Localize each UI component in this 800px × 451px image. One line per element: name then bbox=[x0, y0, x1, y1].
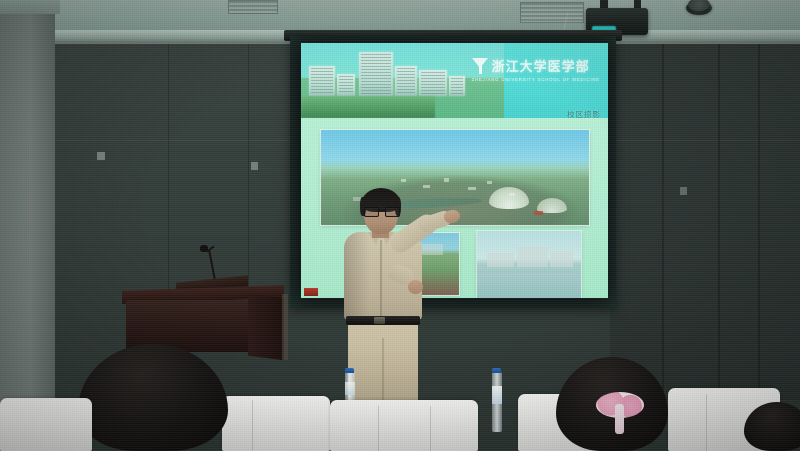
bottle-label bbox=[345, 382, 355, 395]
right-wall bbox=[610, 20, 800, 400]
presenter-shirt-shadow bbox=[344, 232, 370, 320]
eyeglasses-icon bbox=[364, 207, 398, 215]
university-logo-cn: 浙江大学医学部 bbox=[492, 56, 590, 75]
lectern-edge-highlight bbox=[282, 294, 288, 360]
wall-switch[interactable] bbox=[251, 162, 258, 170]
presenter-lower-hand bbox=[408, 280, 423, 294]
university-logo: 浙江大学医学部 ZHEJIANG UNIVERSITY SCHOOL OF ME… bbox=[472, 56, 600, 82]
bottle-label bbox=[492, 386, 502, 404]
slide-subtitle: 校区掠影 bbox=[567, 109, 601, 120]
air-vent bbox=[228, 0, 278, 14]
bottle-cap bbox=[492, 368, 501, 373]
wall-panel-seam bbox=[662, 20, 664, 400]
hair-scrunchie-tail bbox=[615, 404, 624, 434]
chair-center bbox=[330, 400, 478, 451]
chair-left bbox=[222, 396, 330, 451]
university-crest-icon bbox=[472, 57, 489, 74]
wall-panel-seam bbox=[758, 20, 760, 400]
belt-buckle bbox=[374, 317, 385, 324]
dome-building bbox=[489, 187, 529, 209]
screen-brand-badge bbox=[304, 288, 318, 296]
wall-switch[interactable] bbox=[680, 187, 687, 195]
lectern-side-panel bbox=[248, 294, 284, 360]
air-vent bbox=[520, 2, 584, 23]
university-logo-en: ZHEJIANG UNIVERSITY SCHOOL OF MEDICINE bbox=[472, 77, 600, 82]
trouser-seam bbox=[382, 338, 384, 404]
left-pillar bbox=[0, 0, 55, 451]
slide-header: 浙江大学医学部 ZHEJIANG UNIVERSITY SCHOOL OF ME… bbox=[301, 43, 608, 118]
ceiling-left-edge bbox=[0, 0, 60, 14]
campus-photo-right bbox=[477, 231, 581, 298]
lecture-hall-photo: 浙江大学医学部 ZHEJIANG UNIVERSITY SCHOOL OF ME… bbox=[0, 0, 800, 451]
shirt-placket bbox=[380, 240, 382, 318]
wall-panel-seam bbox=[718, 20, 720, 400]
chair-left-edge bbox=[0, 398, 92, 451]
wall-switch[interactable] bbox=[97, 152, 105, 160]
bottle-cap bbox=[345, 368, 354, 373]
